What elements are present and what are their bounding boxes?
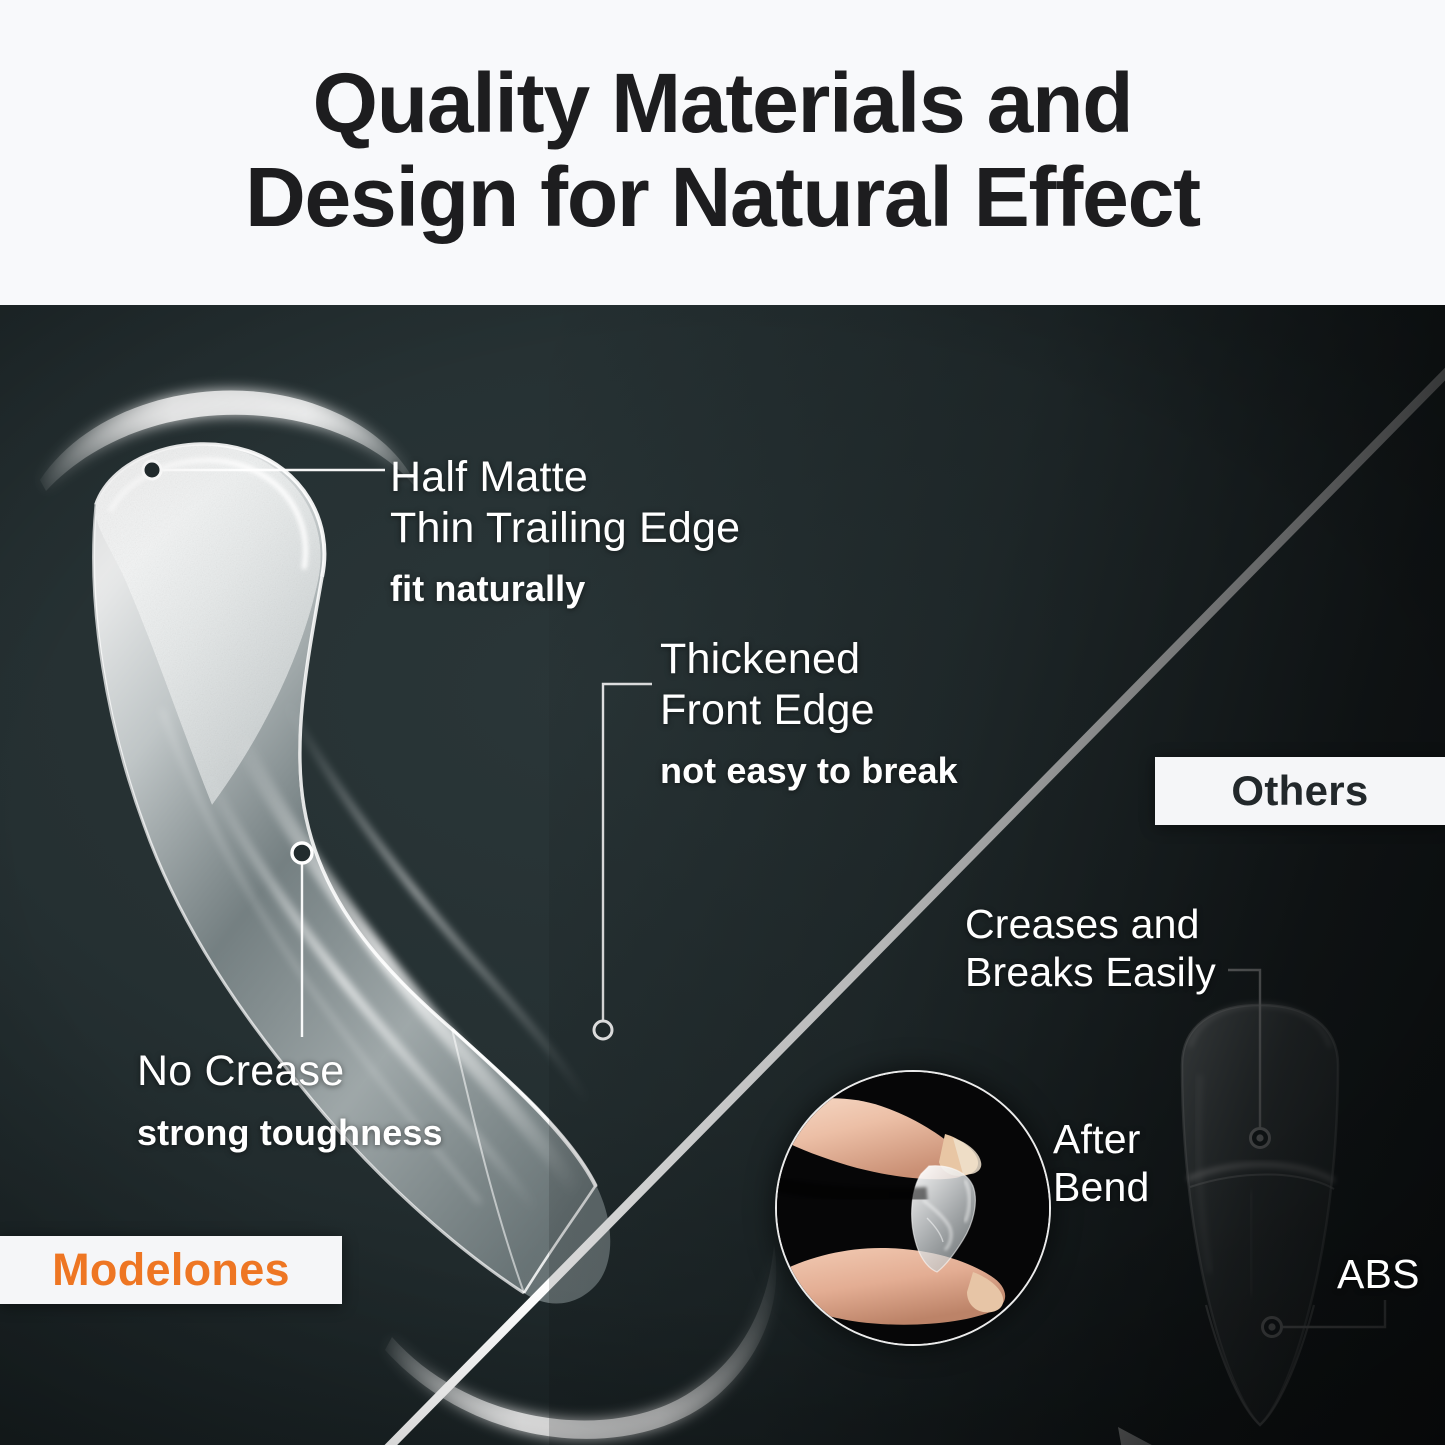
brand-badge-modelones: Modelones: [0, 1236, 342, 1304]
callout-no-crease-sub: strong toughness: [137, 1111, 443, 1154]
dot-half-matte: [143, 461, 161, 479]
page-title-line1: Quality Materials and: [313, 56, 1133, 150]
callout-half-matte-line1: Half Matte: [390, 452, 740, 503]
callout-abs-label: ABS: [1337, 1250, 1420, 1298]
callout-half-matte-sub: fit naturally: [390, 567, 740, 610]
callout-after-bend-line1: After: [1053, 1115, 1150, 1163]
header-band: Quality Materials and Design for Natural…: [0, 0, 1445, 305]
callout-creases-breaks: Creases and Breaks Easily: [965, 900, 1216, 997]
callout-no-crease: No Crease strong toughness: [137, 1046, 443, 1154]
competitor-badge-label: Others: [1231, 767, 1368, 815]
callout-after-bend-line2: Bend: [1053, 1163, 1150, 1211]
product-comparison-infographic: Quality Materials and Design for Natural…: [0, 0, 1445, 1445]
callout-creases-line2: Breaks Easily: [965, 948, 1216, 996]
competitor-badge-others: Others: [1155, 757, 1445, 825]
callout-thickened-line1: Thickened: [660, 634, 958, 685]
callout-material-abs: ABS: [1337, 1250, 1420, 1298]
callout-thickened-line2: Front Edge: [660, 685, 958, 736]
page-title: Quality Materials and Design for Natural…: [0, 56, 1445, 244]
brand-badge-label: Modelones: [52, 1244, 290, 1296]
callout-half-matte: Half Matte Thin Trailing Edge fit natura…: [390, 452, 740, 611]
page-title-line2: Design for Natural Effect: [0, 150, 1445, 244]
callout-thickened-sub: not easy to break: [660, 749, 958, 792]
callout-half-matte-line2: Thin Trailing Edge: [390, 503, 740, 554]
dot-no-crease: [292, 843, 312, 863]
dot-thickened-front-edge: [594, 1021, 612, 1039]
callout-no-crease-line1: No Crease: [137, 1046, 443, 1097]
callout-creases-line1: Creases and: [965, 900, 1216, 948]
callout-after-bend: After Bend: [1053, 1115, 1150, 1212]
callout-thickened-front-edge: Thickened Front Edge not easy to break: [660, 634, 958, 793]
fingers-bending-nail-photo: [775, 1070, 1051, 1346]
